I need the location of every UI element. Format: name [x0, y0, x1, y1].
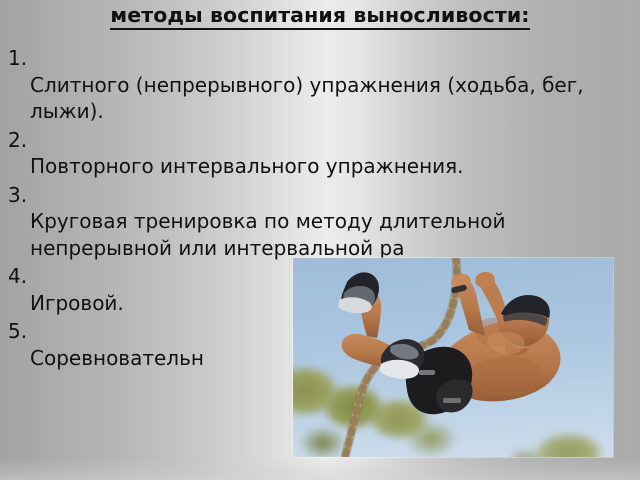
list-item: 3.Круговая тренировка по методу длительн… [0, 182, 640, 262]
slide-title: методы воспитания выносливости: [0, 3, 640, 27]
slide-title-text: методы воспитания выносливости: [110, 3, 529, 30]
list-item-number: 4. [8, 263, 27, 290]
list-item-text: Круговая тренировка по методу длительной… [30, 209, 505, 260]
list-item: 1.Слитного (непрерывного) упражнения (хо… [0, 45, 640, 125]
list-item-number: 2. [8, 127, 27, 154]
list-item: 2.Повторного интервального упражнения. [0, 127, 640, 180]
slide-bottom-edge [0, 458, 640, 480]
list-item-number: 1. [8, 45, 27, 72]
athlete-illustration [293, 258, 613, 457]
list-item-number: 5. [8, 318, 27, 345]
presentation-slide: методы воспитания выносливости: 1.Слитно… [0, 0, 640, 480]
list-item-number: 3. [8, 182, 27, 209]
list-item-text: Повторного интервального упражнения. [30, 154, 464, 178]
list-item-text: Слитного (непрерывного) упражнения (ходь… [30, 73, 584, 124]
list-item-text: Игровой. [30, 291, 124, 315]
rope-climbing-photo [293, 258, 613, 457]
list-item-text: Соревновательн [30, 346, 204, 370]
